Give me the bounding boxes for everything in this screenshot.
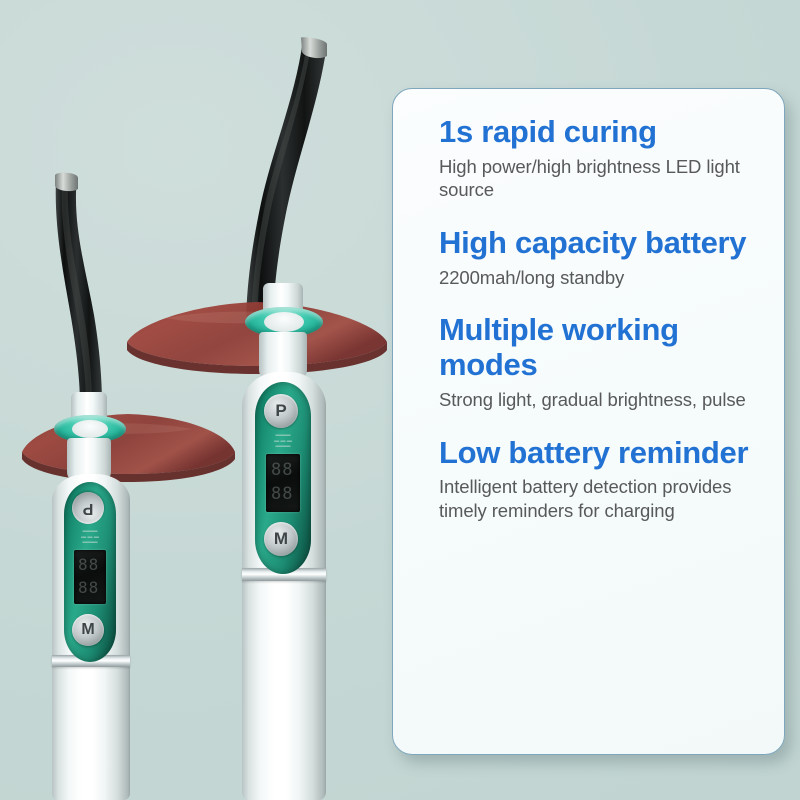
program-button-rear[interactable]: P [264,394,298,428]
light-shield-front [20,412,238,490]
lcd-digits-secondary-rear: 88 [271,484,293,504]
feature-title: High capacity battery [439,226,754,261]
feature-item-multiple-working-modes: Multiple working modes Strong light, gra… [439,313,754,411]
feature-description: High power/high brightness LED light sou… [439,155,754,202]
mode-button-front[interactable]: M [72,614,104,646]
lcd-display-front: 88 88 [74,550,106,604]
feature-title: 1s rapid curing [439,115,754,150]
product-feature-graphic: P ▬▬▬▬ ▬ ▬▬▬▬ 88 88 M [0,0,800,800]
feature-description: 2200mah/long standby [439,266,754,290]
control-pad-rear: P ▬▬▬▬ ▬ ▬▬▬▬ 88 88 M [255,382,311,574]
lcd-digits-rear: 88 [271,460,293,480]
lcd-digits-front: 88 [78,555,99,574]
program-button-front[interactable]: P [72,492,104,524]
feature-description: Strong light, gradual brightness, pulse [439,388,754,412]
feature-description: Intelligent battery detection provides t… [439,475,754,522]
mode-button-rear[interactable]: M [264,522,298,556]
feature-item-low-battery-reminder: Low battery reminder Intelligent battery… [439,436,754,523]
mode-indicator-labels-rear: ▬▬▬▬ ▬ ▬▬▬▬ [263,433,303,450]
control-pad-front: P ▬▬▬▬ ▬ ▬▬▬▬ 88 88 M [64,482,116,662]
lcd-digits-secondary-front: 88 [78,578,99,597]
light-guide-rod-front [42,165,162,415]
feature-title: Low battery reminder [439,436,754,471]
feature-item-high-capacity-battery: High capacity battery 2200mah/long stand… [439,226,754,289]
lcd-display-rear: 88 88 [266,454,300,512]
feature-panel: 1s rapid curing High power/high brightne… [392,88,785,755]
feature-title: Multiple working modes [439,313,754,382]
collar-bore-rear [264,312,304,332]
feature-item-rapid-curing: 1s rapid curing High power/high brightne… [439,115,754,202]
mode-indicator-labels-front: ▬▬▬▬ ▬ ▬▬▬▬ [70,529,110,546]
collar-bore-front [72,420,108,438]
